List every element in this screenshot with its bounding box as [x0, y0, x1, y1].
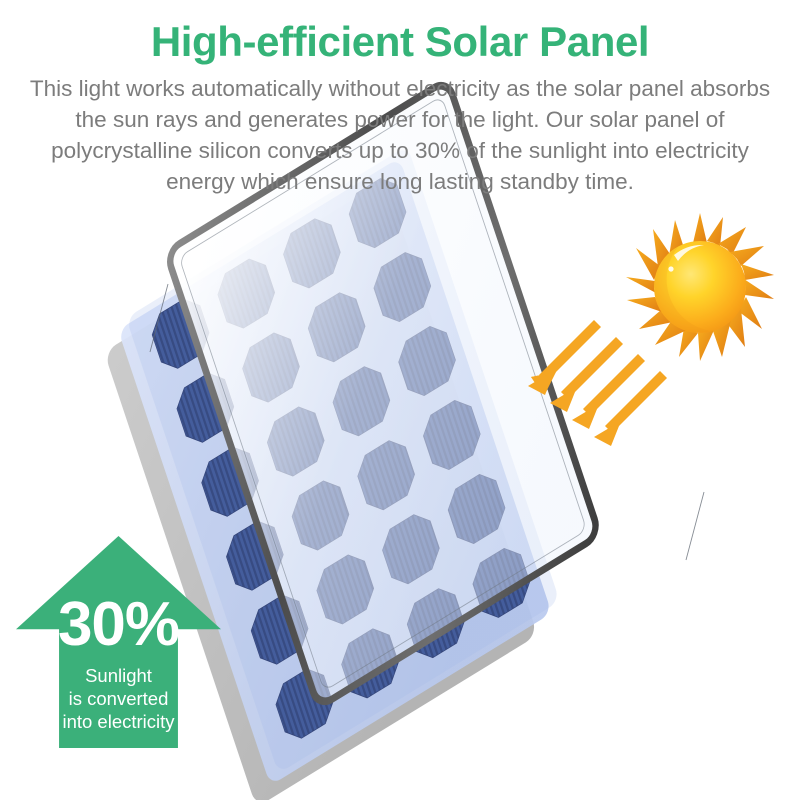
page-title: High-efficient Solar Panel — [0, 0, 800, 65]
sun-icon — [626, 213, 774, 361]
header: High-efficient Solar Panel This light wo… — [0, 0, 800, 210]
sun-gloss-dot — [668, 266, 673, 271]
layer-leader-lines-light — [602, 528, 672, 596]
page-description: This light works automatically without e… — [16, 65, 784, 197]
sunlight-arrow — [594, 371, 667, 446]
badge-caption: Sunlight is converted into electricity — [16, 664, 221, 733]
sunlight-arrow — [550, 337, 623, 412]
badge-percent-value: 30% — [16, 594, 221, 656]
badge-caption-line-1: Sunlight — [16, 664, 221, 687]
sunlight-arrow — [572, 354, 645, 429]
infographic-page: High-efficient Solar Panel This light wo… — [0, 0, 800, 800]
badge-caption-line-3: into electricity — [16, 710, 221, 733]
badge-content: 30% Sunlight is converted into electrici… — [16, 536, 221, 748]
efficiency-badge: 30% Sunlight is converted into electrici… — [16, 536, 221, 748]
badge-caption-line-2: is converted — [16, 687, 221, 710]
